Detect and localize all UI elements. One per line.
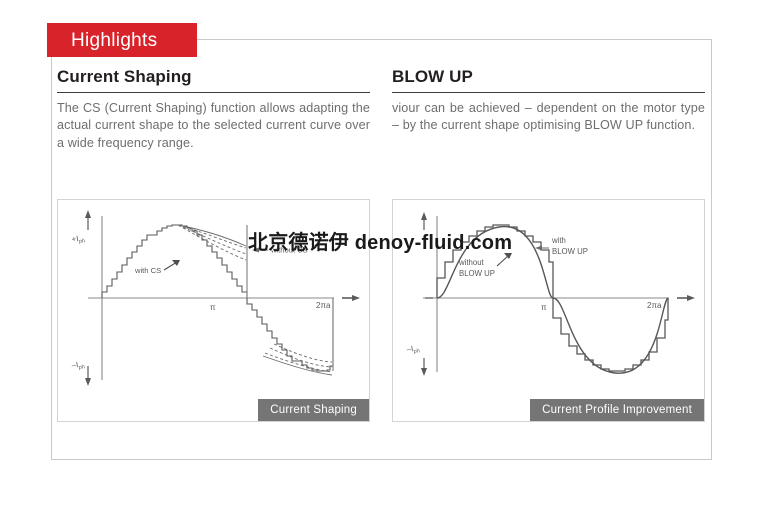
figure-current-shaping: +Iph –Iph π 2πa bbox=[57, 199, 370, 422]
annotation-without-blow-up-line1: without bbox=[458, 258, 485, 267]
curve-without-cs-positive bbox=[178, 225, 246, 260]
axis-arrow-up-icon bbox=[85, 210, 91, 230]
y-label-positive: +Iph bbox=[71, 233, 85, 246]
x-tick-pi: π bbox=[210, 303, 216, 312]
axis-arrow-down-icon-right bbox=[421, 358, 427, 376]
y-label-negative-right: –Iph bbox=[406, 343, 420, 356]
axis-arrow-right-icon bbox=[342, 295, 360, 301]
annotation-pointer-with-cs bbox=[164, 260, 180, 270]
x-tick-pi-right: π bbox=[541, 303, 547, 312]
annotation-without-cs: without CS bbox=[270, 246, 308, 255]
annotation-with-cs: with CS bbox=[134, 266, 161, 275]
screenshot-root: Highlights Current Shaping The CS (Curre… bbox=[0, 0, 761, 520]
annotation-pointer-without-blow-up bbox=[497, 253, 512, 266]
annotation-with-blow-up-line2: BLOW UP bbox=[552, 247, 588, 256]
chart-current-profile-improvement: –Iph π 2πa with BLOW bbox=[393, 200, 704, 421]
annotation-without-blow-up-line2: BLOW UP bbox=[459, 269, 495, 278]
heading-rule-left bbox=[57, 92, 370, 93]
axis-arrow-up-icon-right bbox=[421, 212, 427, 230]
annotation-with-blow-up-line1: with bbox=[551, 236, 566, 245]
body-blow-up: viour can be achieved – dependent on the… bbox=[392, 100, 705, 135]
heading-rule-right bbox=[392, 92, 705, 93]
column-current-shaping: Current Shaping The CS (Current Shaping)… bbox=[57, 68, 370, 448]
caption-current-shaping: Current Shaping bbox=[258, 399, 369, 421]
x-tick-2pia-right: 2πa bbox=[647, 301, 662, 310]
highlights-columns: Current Shaping The CS (Current Shaping)… bbox=[57, 68, 705, 448]
tab-highlights-label: Highlights bbox=[47, 31, 157, 50]
caption-current-profile-improvement: Current Profile Improvement bbox=[530, 399, 704, 421]
heading-current-shaping: Current Shaping bbox=[57, 68, 370, 92]
annotation-pointer-without-cs bbox=[252, 248, 268, 253]
tab-highlights[interactable]: Highlights bbox=[47, 23, 197, 57]
curve-with-blow-up-positive bbox=[437, 225, 553, 298]
axis-arrow-right-icon-right bbox=[677, 295, 695, 301]
chart-current-shaping: +Iph –Iph π 2πa bbox=[58, 200, 369, 421]
body-current-shaping: The CS (Current Shaping) function allows… bbox=[57, 100, 370, 153]
y-label-negative: –Iph bbox=[71, 359, 85, 372]
column-blow-up: BLOW UP viour can be achieved – dependen… bbox=[392, 68, 705, 448]
axis-arrow-down-icon bbox=[85, 366, 91, 386]
x-tick-2pia: 2πa bbox=[316, 301, 331, 310]
figure-current-profile-improvement: –Iph π 2πa with BLOW bbox=[392, 199, 705, 422]
heading-blow-up: BLOW UP bbox=[392, 68, 705, 92]
